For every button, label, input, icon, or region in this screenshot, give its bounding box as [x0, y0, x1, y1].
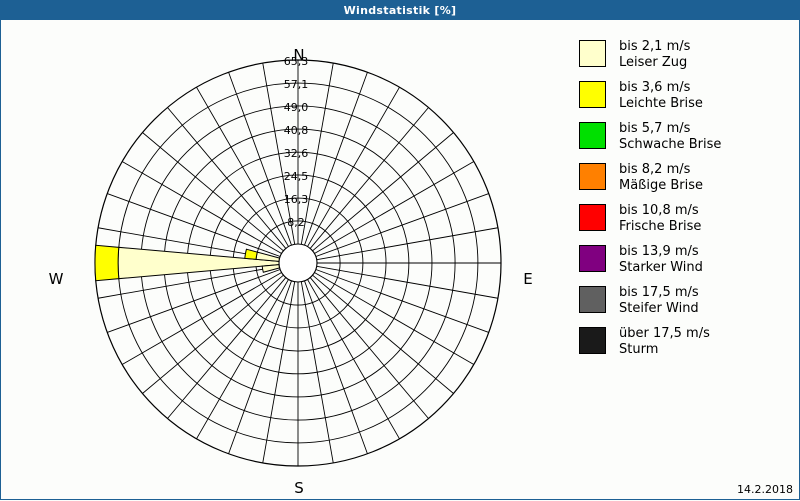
legend-label: bis 17,5 m/sSteifer Wind [619, 285, 699, 317]
legend-speed-range: bis 2,1 m/s [619, 39, 690, 55]
legend-speed-range: über 17,5 m/s [619, 326, 710, 342]
window-title: Windstatistik [%] [344, 4, 457, 17]
legend-item[interactable]: bis 3,6 m/sLeichte Brise [579, 80, 794, 112]
legend-label: bis 13,9 m/sStarker Wind [619, 244, 703, 276]
legend-speed-range: bis 17,5 m/s [619, 285, 699, 301]
legend-label: bis 10,8 m/sFrische Brise [619, 203, 701, 235]
legend-beaufort-name: Schwache Brise [619, 137, 721, 153]
ring-label: 32,6 [284, 147, 309, 160]
legend-item[interactable]: bis 8,2 m/sMäßige Brise [579, 162, 794, 194]
legend-speed-range: bis 10,8 m/s [619, 203, 701, 219]
legend-item[interactable]: über 17,5 m/sSturm [579, 326, 794, 358]
legend-color-swatch [579, 81, 606, 108]
legend-color-swatch [579, 204, 606, 231]
legend-color-swatch [579, 163, 606, 190]
ring-label: 16,3 [284, 193, 309, 206]
ring-label: 49,0 [284, 101, 309, 114]
date-stamp: 14.2.2018 [737, 483, 793, 496]
legend-speed-range: bis 8,2 m/s [619, 162, 703, 178]
windrose-window: Windstatistik [%] 8,216,324,532,640,849,… [0, 0, 800, 500]
compass-label-north: N [284, 46, 314, 64]
legend-beaufort-name: Frische Brise [619, 219, 701, 235]
legend-label: bis 8,2 m/sMäßige Brise [619, 162, 703, 194]
legend-beaufort-name: Leiser Zug [619, 55, 690, 71]
legend-color-swatch [579, 327, 606, 354]
windrose-center-hub [279, 244, 317, 282]
window-title-bar: Windstatistik [%] [1, 1, 799, 20]
legend-item[interactable]: bis 10,8 m/sFrische Brise [579, 203, 794, 235]
windrose-ring-labels: 8,216,324,532,640,849,057,165,3 [284, 55, 309, 229]
compass-label-south: S [284, 479, 314, 497]
legend-beaufort-name: Sturm [619, 342, 710, 358]
legend-beaufort-name: Starker Wind [619, 260, 703, 276]
legend-label: bis 5,7 m/sSchwache Brise [619, 121, 721, 153]
compass-label-west: W [41, 270, 71, 288]
legend-beaufort-name: Steifer Wind [619, 301, 699, 317]
ring-label: 24,5 [284, 170, 309, 183]
windrose-plot-area: 8,216,324,532,640,849,057,165,3 N E S W [1, 20, 566, 501]
legend-speed-range: bis 13,9 m/s [619, 244, 703, 260]
legend-item[interactable]: bis 17,5 m/sSteifer Wind [579, 285, 794, 317]
windrose-petals [95, 245, 280, 280]
ring-label: 8,2 [287, 216, 305, 229]
ring-label: 57,1 [284, 78, 309, 91]
legend-label: bis 3,6 m/sLeichte Brise [619, 80, 703, 112]
legend-color-swatch [579, 286, 606, 313]
compass-label-east: E [513, 270, 543, 288]
ring-label: 40,8 [284, 124, 309, 137]
legend-color-swatch [579, 122, 606, 149]
legend-speed-range: bis 5,7 m/s [619, 121, 721, 137]
legend-item[interactable]: bis 13,9 m/sStarker Wind [579, 244, 794, 276]
windrose-chart: 8,216,324,532,640,849,057,165,3 [1, 20, 566, 501]
legend: bis 2,1 m/sLeiser Zugbis 3,6 m/sLeichte … [579, 39, 794, 367]
legend-beaufort-name: Leichte Brise [619, 96, 703, 112]
legend-speed-range: bis 3,6 m/s [619, 80, 703, 96]
legend-color-swatch [579, 245, 606, 272]
legend-label: über 17,5 m/sSturm [619, 326, 710, 358]
legend-beaufort-name: Mäßige Brise [619, 178, 703, 194]
legend-label: bis 2,1 m/sLeiser Zug [619, 39, 690, 71]
legend-color-swatch [579, 40, 606, 67]
legend-item[interactable]: bis 5,7 m/sSchwache Brise [579, 121, 794, 153]
legend-item[interactable]: bis 2,1 m/sLeiser Zug [579, 39, 794, 71]
